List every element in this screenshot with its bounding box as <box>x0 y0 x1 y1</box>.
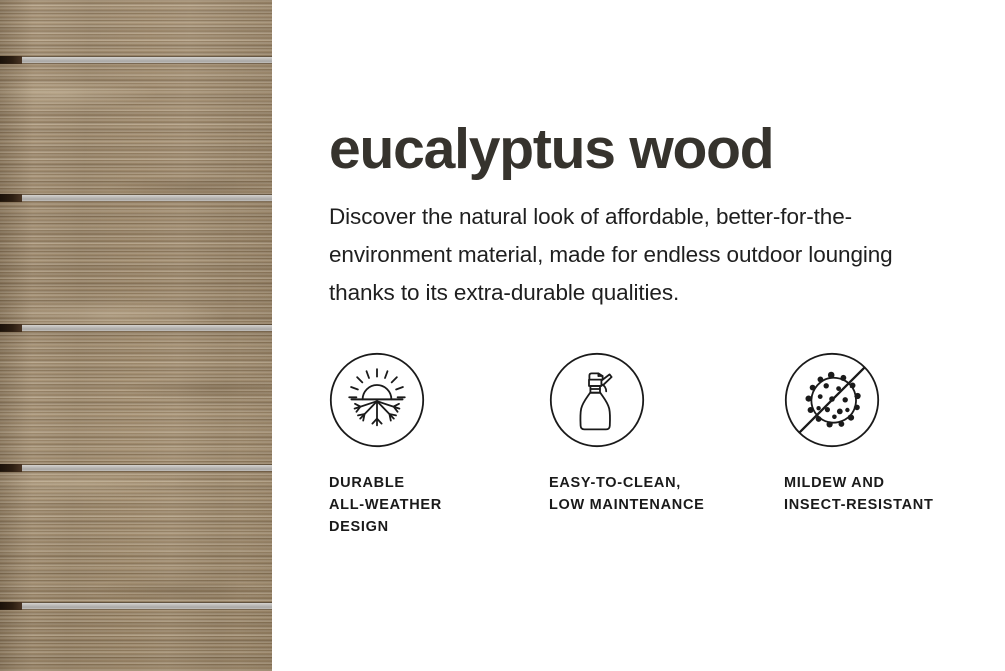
feature-list: DURABLE ALL-WEATHER DESIGN <box>329 352 1001 538</box>
content-panel: eucalyptus wood Discover the natural loo… <box>272 0 1005 671</box>
spray-bottle-icon <box>549 352 645 448</box>
slat-gap <box>0 602 272 610</box>
wood-texture-panel <box>0 0 272 671</box>
feature-caption: DURABLE ALL-WEATHER DESIGN <box>329 472 549 538</box>
no-germs-mildew-insect-icon <box>784 352 880 448</box>
slat-gap <box>0 464 272 472</box>
page-title: eucalyptus wood <box>329 121 773 178</box>
feature-item-easy-to-clean: EASY-TO-CLEAN, LOW MAINTENANCE <box>549 352 784 538</box>
feature-item-durable-all-weather: DURABLE ALL-WEATHER DESIGN <box>329 352 549 538</box>
feature-caption: EASY-TO-CLEAN, LOW MAINTENANCE <box>549 472 784 516</box>
product-material-callout: eucalyptus wood Discover the natural loo… <box>0 0 1005 671</box>
slat-gap <box>0 324 272 332</box>
feature-item-mildew-insect-resistant: MILDEW AND INSECT-RESISTANT <box>784 352 934 538</box>
description-text: Discover the natural look of affordable,… <box>329 198 947 312</box>
feature-caption: MILDEW AND INSECT-RESISTANT <box>784 472 934 516</box>
all-weather-sun-snowflake-icon <box>329 352 425 448</box>
wood-vignette-layer <box>0 0 272 671</box>
slat-gap <box>0 194 272 202</box>
slat-gap <box>0 56 272 64</box>
